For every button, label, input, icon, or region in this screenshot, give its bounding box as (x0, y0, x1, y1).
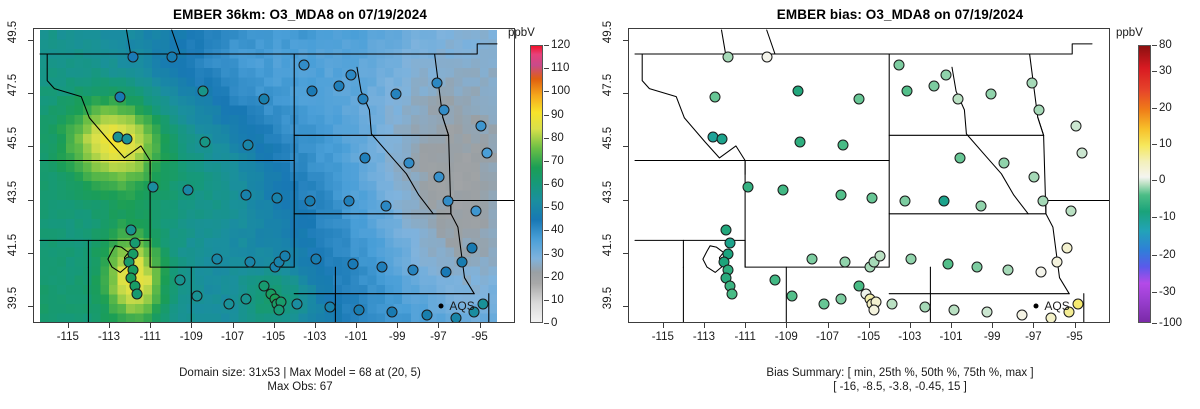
obs-marker (242, 139, 253, 150)
y-axis-tick (28, 40, 33, 41)
bias-marker (875, 251, 886, 262)
bias-marker (1066, 206, 1077, 217)
bias-marker (720, 224, 731, 235)
model-colorbar-tick-label: 120 (551, 39, 570, 51)
x-axis-tick (869, 323, 870, 328)
bias-colorbar-tick (1152, 323, 1157, 324)
obs-marker (345, 70, 356, 81)
bias-marker (901, 86, 912, 97)
x-axis-label: -99 (970, 331, 1014, 343)
obs-marker (343, 195, 354, 206)
obs-marker (481, 147, 492, 158)
model-colorbar-tick (544, 300, 549, 301)
model-colorbar-tick-label: 10 (551, 294, 564, 306)
obs-marker (380, 200, 391, 211)
obs-marker (432, 78, 443, 89)
bias-caption-line2: [ -16, -8.5, -3.8, -0.45, 15 ] (600, 380, 1200, 394)
model-colorbar-tick (544, 138, 549, 139)
bias-marker (942, 259, 953, 270)
model-plot-frame: AQS (33, 28, 515, 323)
bias-marker (938, 195, 949, 206)
x-axis-tick (1075, 323, 1076, 328)
bias-marker (1029, 171, 1040, 182)
obs-marker (183, 184, 194, 195)
bias-marker (1052, 256, 1063, 267)
y-axis-label: 41.5 (602, 233, 614, 255)
model-caption-line1: Domain size: 31x53 | Max Model = 68 at (… (0, 366, 600, 380)
x-axis-tick (438, 323, 439, 328)
bias-marker (1076, 147, 1087, 158)
y-axis-label: 43.5 (602, 180, 614, 202)
model-aqs-legend-dot (439, 303, 444, 308)
x-axis-tick (828, 323, 829, 328)
bias-marker (949, 304, 960, 315)
bias-colorbar-unit-label: ppbV (1116, 27, 1143, 39)
y-axis-label-wrap: 41.5 (602, 245, 618, 261)
bias-marker (743, 182, 754, 193)
model-colorbar-tick (544, 230, 549, 231)
obs-marker (175, 275, 186, 286)
x-axis-label: -105 (847, 331, 891, 343)
bias-marker (866, 192, 877, 203)
y-axis-label: 39.5 (602, 287, 614, 309)
obs-marker (197, 86, 208, 97)
y-axis-label-wrap: 49.5 (602, 32, 618, 48)
obs-marker (325, 302, 336, 313)
y-axis-tick (28, 253, 33, 254)
y-axis-label-wrap: 47.5 (602, 85, 618, 101)
y-axis-label: 47.5 (602, 74, 614, 96)
model-caption-line2: Max Obs: 67 (0, 380, 600, 394)
model-colorbar-tick-label: 20 (551, 271, 564, 283)
bias-colorbar-tick (1152, 217, 1157, 218)
x-axis-label: -97 (416, 331, 460, 343)
bias-marker (1045, 312, 1056, 322)
model-colorbar-tick-label: 80 (551, 132, 564, 144)
bias-aqs-legend-label: AQS (1044, 299, 1069, 313)
x-axis-tick (233, 323, 234, 328)
y-axis-label: 43.5 (7, 180, 19, 202)
model-colorbar-tick-label: 110 (551, 62, 569, 74)
obs-marker (131, 288, 142, 299)
bias-marker (975, 200, 986, 211)
bias-marker (835, 190, 846, 201)
y-axis-tick (28, 93, 33, 94)
model-colorbar-tick (544, 91, 549, 92)
bias-marker (726, 288, 737, 299)
y-axis-tick (623, 93, 628, 94)
y-axis-label: 41.5 (7, 233, 19, 255)
x-axis-tick (745, 323, 746, 328)
bias-marker (953, 94, 964, 105)
obs-marker (387, 307, 398, 318)
x-axis-tick (786, 323, 787, 328)
obs-marker (304, 195, 315, 206)
obs-marker (127, 51, 138, 62)
x-axis-tick (150, 323, 151, 328)
x-axis-label: -107 (211, 331, 255, 343)
obs-marker (457, 256, 468, 267)
obs-marker (440, 267, 451, 278)
bias-colorbar-tick-label: -20 (1159, 249, 1176, 261)
obs-marker (391, 88, 402, 99)
x-axis-label: -99 (375, 331, 419, 343)
y-axis-label-wrap: 39.5 (7, 298, 23, 314)
x-axis-tick (910, 323, 911, 328)
bias-marker (792, 86, 803, 97)
obs-marker (292, 299, 303, 310)
panel-bias: EMBER bias: O3_MDA8 on 07/19/2024 AQS -1… (600, 0, 1200, 409)
bias-marker (893, 59, 904, 70)
x-axis-label: -101 (929, 331, 973, 343)
bias-colorbar-tick-label: -100 (1159, 317, 1182, 329)
bias-marker (835, 294, 846, 305)
x-axis-tick (109, 323, 110, 328)
x-axis-tick (315, 323, 316, 328)
x-axis-tick (191, 323, 192, 328)
bias-colorbar-tick (1152, 108, 1157, 109)
obs-marker (434, 171, 445, 182)
bias-colorbar-tick-label: 20 (1159, 102, 1172, 114)
figure-canvas: EMBER 36km: O3_MDA8 on 07/19/2024 AQS -1… (0, 0, 1200, 409)
obs-marker (240, 190, 251, 201)
x-axis-tick (992, 323, 993, 328)
obs-marker (199, 136, 210, 147)
panel-model: EMBER 36km: O3_MDA8 on 07/19/2024 AQS -1… (0, 0, 600, 409)
bias-marker (940, 70, 951, 81)
bias-marker (920, 302, 931, 313)
model-colorbar-unit-label: ppbV (508, 27, 535, 39)
obs-marker (245, 256, 256, 267)
x-axis-tick (951, 323, 952, 328)
x-axis-label: -103 (293, 331, 337, 343)
model-colorbar-tick-label: 60 (551, 178, 564, 190)
x-axis-label: -95 (1053, 331, 1097, 343)
y-axis-label: 49.5 (7, 20, 19, 42)
obs-marker (191, 291, 202, 302)
y-axis-label-wrap: 45.5 (7, 138, 23, 154)
model-colorbar-bar (530, 45, 543, 323)
y-axis-label-wrap: 49.5 (7, 32, 23, 48)
bias-colorbar-tick (1152, 71, 1157, 72)
bias-marker (955, 152, 966, 163)
bias-marker (761, 51, 772, 62)
model-colorbar-tick (544, 68, 549, 69)
bias-marker (986, 88, 997, 99)
y-axis-tick (623, 306, 628, 307)
y-axis-tick (623, 200, 628, 201)
bias-marker (710, 91, 721, 102)
obs-marker (403, 158, 414, 169)
model-colorbar-tick-label: 30 (551, 248, 564, 260)
bias-marker (1062, 243, 1073, 254)
bias-marker (724, 238, 735, 249)
obs-marker (121, 134, 132, 145)
obs-marker (442, 195, 453, 206)
model-colorbar-tick (544, 323, 549, 324)
bias-aqs-legend-dot (1034, 303, 1039, 308)
y-axis-label-wrap: 41.5 (7, 245, 23, 261)
bias-marker (722, 51, 733, 62)
bias-marker (971, 262, 982, 273)
bias-plot-area: AQS (629, 29, 1109, 322)
bias-marker (794, 136, 805, 147)
bias-marker (819, 299, 830, 310)
model-colorbar-tick (544, 45, 549, 46)
obs-marker (471, 206, 482, 217)
y-axis-tick (28, 146, 33, 147)
y-axis-label-wrap: 43.5 (602, 192, 618, 208)
x-axis-tick (480, 323, 481, 328)
y-axis-tick (623, 253, 628, 254)
y-axis-label-wrap: 43.5 (7, 192, 23, 208)
bias-colorbar-tick-label: -30 (1159, 286, 1176, 298)
x-axis-label: -97 (1011, 331, 1055, 343)
obs-marker (450, 312, 461, 322)
obs-marker (438, 104, 449, 115)
y-axis-tick (623, 146, 628, 147)
model-colorbar-tick (544, 184, 549, 185)
x-axis-label: -109 (169, 331, 213, 343)
model-colorbar-tick (544, 207, 549, 208)
bias-marker (840, 256, 851, 267)
model-colorbar-tick (544, 161, 549, 162)
bias-marker (1037, 195, 1048, 206)
model-colorbar-tick-label: 70 (551, 155, 564, 167)
bias-marker (807, 254, 818, 265)
x-axis-tick (397, 323, 398, 328)
bias-caption-line1: Bias Summary: [ min, 25th %, 50th %, 75t… (600, 366, 1200, 380)
x-axis-tick (356, 323, 357, 328)
obs-marker (271, 192, 282, 203)
bias-marker (899, 195, 910, 206)
bias-marker (868, 304, 879, 315)
bias-colorbar-tick (1152, 180, 1157, 181)
model-plot-area: AQS (34, 29, 514, 322)
model-colorbar-tick-label: 100 (551, 85, 570, 97)
obs-marker (212, 254, 223, 265)
y-axis-tick (28, 200, 33, 201)
obs-marker (273, 304, 284, 315)
x-axis-label: -111 (128, 331, 172, 343)
obs-marker (376, 262, 387, 273)
y-axis-label-wrap: 45.5 (602, 138, 618, 154)
y-axis-label: 39.5 (7, 287, 19, 309)
obs-marker (166, 51, 177, 62)
x-axis-tick (663, 323, 664, 328)
bias-colorbar-tick-label: 80 (1159, 39, 1172, 51)
obs-marker (148, 182, 159, 193)
bias-marker (716, 134, 727, 145)
bias-marker (1027, 78, 1038, 89)
bias-colorbar-tick-label: -10 (1159, 211, 1176, 223)
bias-marker (905, 254, 916, 265)
obs-marker (467, 243, 478, 254)
obs-marker (306, 86, 317, 97)
x-axis-label: -107 (806, 331, 850, 343)
bias-marker (1002, 264, 1013, 275)
bias-marker (1033, 104, 1044, 115)
obs-marker (115, 91, 126, 102)
bias-marker (854, 94, 865, 105)
obs-marker (333, 80, 344, 91)
model-colorbar-tick (544, 254, 549, 255)
model-colorbar-tick-label: 50 (551, 201, 564, 213)
bias-colorbar-bar (1138, 45, 1151, 323)
bias-marker (770, 275, 781, 286)
x-axis-label: -113 (87, 331, 131, 343)
bias-plot-frame: AQS (628, 28, 1110, 323)
model-colorbar-tick (544, 277, 549, 278)
y-axis-tick (623, 40, 628, 41)
obs-marker (240, 294, 251, 305)
y-axis-tick (28, 306, 33, 307)
bias-colorbar-tick-label: 10 (1159, 138, 1172, 150)
x-axis-label: -95 (458, 331, 502, 343)
bias-marker (998, 158, 1009, 169)
obs-marker (310, 254, 321, 265)
y-axis-label-wrap: 39.5 (602, 298, 618, 314)
obs-marker (298, 59, 309, 70)
x-axis-tick (1033, 323, 1034, 328)
model-colorbar-tick-label: 40 (551, 224, 564, 236)
y-axis-label: 45.5 (7, 127, 19, 149)
x-axis-tick (68, 323, 69, 328)
obs-marker (129, 238, 140, 249)
x-axis-label: -105 (252, 331, 296, 343)
bias-marker (887, 299, 898, 310)
bias-colorbar-tick (1152, 144, 1157, 145)
x-axis-tick (704, 323, 705, 328)
bias-marker (1072, 299, 1083, 310)
x-axis-label: -115 (46, 331, 90, 343)
bias-colorbar-tick (1152, 255, 1157, 256)
model-colorbar-tick-label: 0 (551, 317, 557, 329)
panel-bias-title: EMBER bias: O3_MDA8 on 07/19/2024 (600, 7, 1200, 22)
x-axis-label: -103 (888, 331, 932, 343)
model-aqs-legend-label: AQS (449, 299, 474, 313)
obs-marker (354, 304, 365, 315)
x-axis-label: -111 (723, 331, 767, 343)
x-axis-label: -115 (641, 331, 685, 343)
obs-marker (224, 299, 235, 310)
obs-marker (477, 299, 488, 310)
bias-marker (778, 184, 789, 195)
obs-marker (360, 152, 371, 163)
obs-marker (407, 264, 418, 275)
obs-marker (422, 310, 433, 321)
obs-marker (475, 120, 486, 131)
bias-marker (1017, 310, 1028, 321)
x-axis-label: -109 (764, 331, 808, 343)
bias-marker (837, 139, 848, 150)
bias-marker (1070, 120, 1081, 131)
bias-colorbar-tick-label: 30 (1159, 65, 1172, 77)
bias-marker (786, 291, 797, 302)
y-axis-label: 45.5 (602, 127, 614, 149)
model-colorbar-tick-label: 90 (551, 109, 564, 121)
bias-colorbar-tick-label: 0 (1159, 174, 1165, 186)
x-axis-label: -101 (334, 331, 378, 343)
model-colorbar-tick (544, 115, 549, 116)
y-axis-label: 49.5 (602, 20, 614, 42)
x-axis-label: -113 (682, 331, 726, 343)
panel-model-title: EMBER 36km: O3_MDA8 on 07/19/2024 (0, 7, 600, 22)
bias-marker (982, 307, 993, 318)
bias-marker (928, 80, 939, 91)
obs-marker (259, 94, 270, 105)
bias-colorbar-tick (1152, 292, 1157, 293)
y-axis-label-wrap: 47.5 (7, 85, 23, 101)
obs-marker (347, 259, 358, 270)
obs-marker (280, 251, 291, 262)
obs-marker (125, 224, 136, 235)
bias-colorbar-tick (1152, 45, 1157, 46)
y-axis-label: 47.5 (7, 74, 19, 96)
bias-marker (1035, 267, 1046, 278)
obs-marker (358, 94, 369, 105)
x-axis-tick (274, 323, 275, 328)
